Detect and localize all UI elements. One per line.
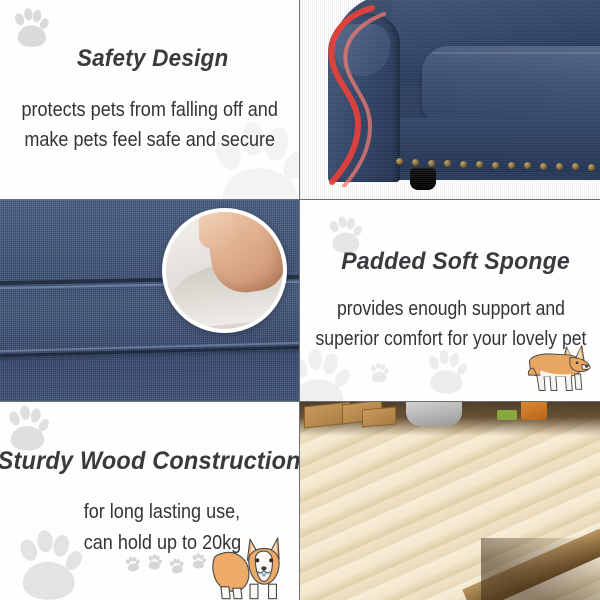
body-line: superior comfort for your lovely pet <box>315 324 586 354</box>
body-line: make pets feel safe and secure <box>21 125 277 155</box>
body-line: provides enough support and <box>315 294 586 324</box>
panel-body: provides enough support and superior com… <box>300 294 600 354</box>
panel-photo-sofa-arm <box>300 0 600 199</box>
panel-sturdy-wood-construction: Sturdy Wood Construction for long lastin… <box>0 402 299 600</box>
paw-print-small-icon <box>368 362 390 383</box>
panel-safety-design: Safety Design protects pets from falling… <box>0 0 299 199</box>
orange-object <box>521 402 547 420</box>
paw-print-icon <box>8 6 54 50</box>
paw-print-icon <box>422 349 470 395</box>
paw-print-icon <box>2 404 52 452</box>
paw-print-small-icon <box>167 557 187 576</box>
panel-body: protects pets from falling off and make … <box>4 95 295 155</box>
panel-body: for long lasting use, can hold up to 20k… <box>73 496 252 558</box>
paw-print-icon <box>300 347 354 401</box>
paw-print-large-icon <box>8 528 88 600</box>
body-line: can hold up to 20kg <box>84 527 241 558</box>
panel-photo-fabric-closeup <box>0 200 299 401</box>
body-line: protects pets from falling off and <box>21 95 277 125</box>
panel-title: Padded Soft Sponge <box>341 248 570 276</box>
red-accent-swoosh-icon <box>314 2 394 187</box>
sofa-leg <box>410 168 436 190</box>
body-line: for long lasting use, <box>84 496 241 527</box>
metal-bucket <box>406 402 462 426</box>
sofa-seat-cushion <box>422 46 600 124</box>
panel-padded-soft-sponge: Padded Soft Sponge provides enough suppo… <box>300 200 600 401</box>
infographic-grid: Safety Design protects pets from falling… <box>0 0 600 600</box>
foam-inset-circle <box>162 208 287 333</box>
panel-photo-wood-planks <box>300 402 600 600</box>
lumber-block <box>362 407 396 428</box>
panel-title: Sturdy Wood Construction <box>0 447 299 476</box>
panel-title: Safety Design <box>77 45 229 73</box>
green-object <box>497 410 517 420</box>
corner-shadow <box>481 538 600 600</box>
